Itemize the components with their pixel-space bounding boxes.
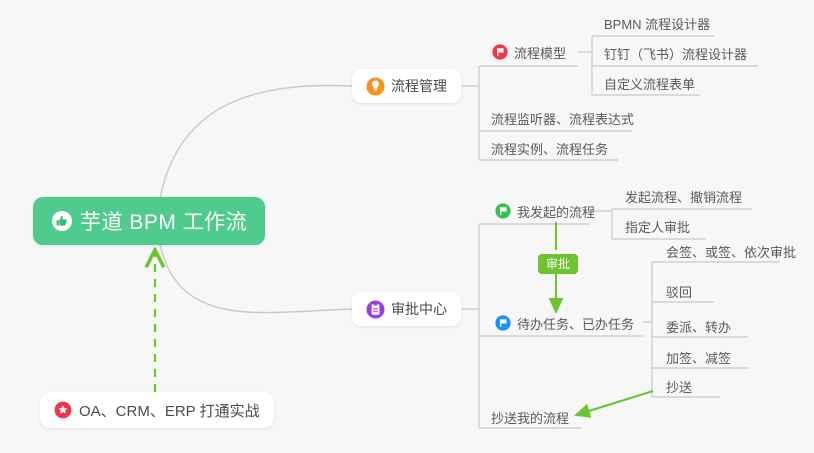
branch-node-approval-center[interactable]: 审批中心: [352, 292, 461, 326]
topic-todo-done[interactable]: 待办任务、已办任务: [495, 312, 634, 334]
topic-label: 待办任务、已办任务: [517, 314, 634, 333]
topic-label: 指定人审批: [625, 217, 690, 236]
topic-label: BPMN 流程设计器: [604, 14, 710, 33]
branch-node-process-management[interactable]: 流程管理: [352, 69, 461, 103]
topic-custom-form[interactable]: 自定义流程表单: [604, 72, 695, 94]
topic-label: 加签、减签: [666, 348, 731, 367]
topic-assignee-approval[interactable]: 指定人审批: [625, 215, 690, 237]
topic-label: 会签、或签、依次审批: [666, 242, 796, 261]
arrow-cc-to-ccme: [576, 391, 653, 415]
topic-label: 流程监听器、流程表达式: [491, 109, 634, 128]
topic-label: 流程实例、流程任务: [491, 139, 608, 158]
topic-delegate-transfer[interactable]: 委派、转办: [666, 315, 731, 337]
topic-my-initiated[interactable]: 我发起的流程: [495, 200, 595, 222]
topic-label: 委派、转办: [666, 317, 731, 336]
topic-bpmn-designer[interactable]: BPMN 流程设计器: [604, 12, 710, 34]
branch-label-process-management: 流程管理: [391, 76, 447, 96]
bottom-note-node[interactable]: OA、CRM、ERP 打通实战: [40, 392, 274, 428]
bottom-note-label: OA、CRM、ERP 打通实战: [79, 400, 260, 421]
star-icon: [54, 401, 72, 419]
topic-process-instance[interactable]: 流程实例、流程任务: [491, 137, 608, 159]
topic-process-model[interactable]: 流程模型: [492, 41, 566, 63]
topic-label: 发起流程、撤销流程: [625, 187, 742, 206]
topic-label: 我发起的流程: [517, 202, 595, 221]
topic-label: 驳回: [666, 282, 692, 301]
topic-label: 抄送我的流程: [491, 408, 569, 427]
clipboard-icon: [366, 300, 385, 319]
topic-start-cancel[interactable]: 发起流程、撤销流程: [625, 185, 742, 207]
topic-add-remove-sign[interactable]: 加签、减签: [666, 346, 731, 368]
lightbulb-icon: [366, 77, 385, 96]
topic-label: 抄送: [666, 377, 692, 396]
thumbs-up-icon: [51, 210, 73, 232]
root-label: 芋道 BPM 工作流: [80, 206, 247, 236]
flag-red-icon: [492, 44, 508, 60]
topic-cc-to-me[interactable]: 抄送我的流程: [491, 406, 569, 428]
approval-arrow-label: 审批: [538, 254, 578, 274]
topic-countersign[interactable]: 会签、或签、依次审批: [666, 240, 796, 262]
topic-label: 自定义流程表单: [604, 74, 695, 93]
flag-green-icon: [495, 203, 511, 219]
branch-label-approval-center: 审批中心: [391, 299, 447, 319]
topic-dingtalk-designer[interactable]: 钉钉（飞书）流程设计器: [604, 42, 747, 64]
topic-cc[interactable]: 抄送: [666, 375, 692, 397]
topic-label: 钉钉（飞书）流程设计器: [604, 44, 747, 63]
topic-label: 流程模型: [514, 43, 566, 62]
edge-root-to-process-management: [160, 85, 352, 198]
topic-process-listener[interactable]: 流程监听器、流程表达式: [491, 107, 634, 129]
topic-reject[interactable]: 驳回: [666, 280, 692, 302]
mindmap-canvas: 芋道 BPM 工作流 OA、CRM、ERP 打通实战 流程管理: [0, 0, 814, 453]
flag-blue-icon: [495, 315, 511, 331]
edge-root-to-approval-center: [160, 245, 352, 313]
root-node[interactable]: 芋道 BPM 工作流: [33, 197, 265, 245]
